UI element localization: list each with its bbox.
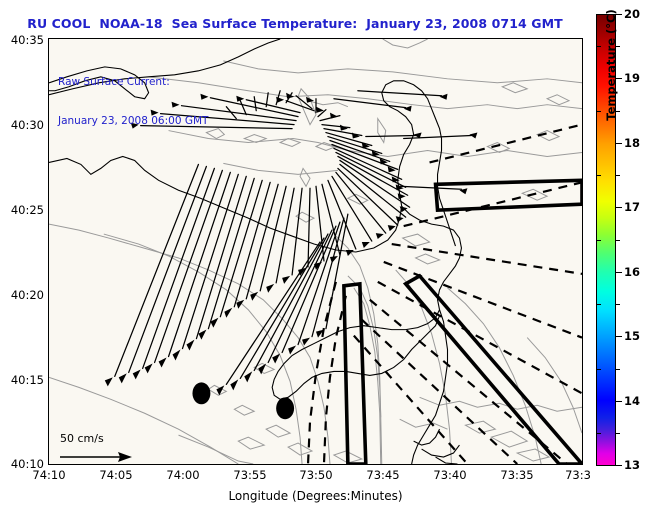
annotation-line-2: January 23, 2008 06:00 GMT — [58, 115, 208, 128]
cbar-minor-tick — [616, 304, 620, 305]
xtick-2: 74:00 — [166, 468, 199, 482]
ytick-1: 40:30 — [11, 118, 44, 132]
station-marker — [276, 397, 294, 419]
cbar-inner-tick — [596, 304, 601, 305]
cbar-inner-tick — [596, 433, 601, 434]
cbar-tick-16 — [616, 272, 622, 273]
ytick-3: 40:20 — [11, 288, 44, 302]
ytick-5: 40:10 — [11, 457, 44, 471]
cbar-inner-tick — [596, 175, 601, 176]
cbar-inner-tick — [596, 240, 601, 241]
cbar-minor-tick — [616, 433, 620, 434]
cbar-label-20: 20 — [624, 7, 640, 21]
station-markers — [192, 382, 294, 419]
cbar-tick-17 — [616, 207, 622, 208]
xtick-3: 73:55 — [233, 468, 266, 482]
cbar-label-15: 15 — [624, 329, 640, 343]
xtick-1: 74:05 — [99, 468, 132, 482]
cbar-inner-tick — [596, 369, 601, 370]
xtick-7: 73:35 — [500, 468, 533, 482]
cbar-label-13: 13 — [624, 458, 640, 472]
vector-scale-legend: 50 cm/s — [56, 432, 152, 466]
xtick-8: 73:3 — [565, 468, 591, 482]
cbar-minor-tick — [616, 175, 620, 176]
xtick-4: 73:50 — [299, 468, 332, 482]
cbar-inner-tick — [596, 111, 601, 112]
station-marker — [192, 382, 210, 404]
current-annotation: Raw Surface Current: January 23, 2008 06… — [58, 50, 208, 154]
scale-legend-label: 50 cm/s — [60, 432, 104, 445]
cbar-tick-13 — [616, 465, 622, 466]
shipping-lane-dashed-boundaries — [308, 125, 582, 464]
cbar-label-18: 18 — [624, 136, 640, 150]
cbar-label-14: 14 — [624, 394, 640, 408]
cbar-inner-tick — [596, 46, 601, 47]
colorbar-title: Temperature (°C) — [604, 0, 618, 160]
cbar-minor-tick — [616, 369, 620, 370]
ytick-4: 40:15 — [11, 373, 44, 387]
ytick-0: 40:35 — [11, 33, 44, 47]
scale-legend-arrow — [58, 450, 144, 464]
annotation-line-1: Raw Surface Current: — [58, 76, 208, 89]
cbar-label-17: 17 — [624, 200, 640, 214]
cbar-label-16: 16 — [624, 265, 640, 279]
cbar-label-19: 19 — [624, 71, 640, 85]
xtick-6: 73:40 — [433, 468, 466, 482]
figure-title: RU COOL NOAA-18 Sea Surface Temperature:… — [0, 16, 590, 31]
ytick-2: 40:25 — [11, 203, 44, 217]
sst-map-figure: RU COOL NOAA-18 Sea Surface Temperature:… — [0, 0, 651, 518]
x-axis-label: Longitude (Degrees:Minutes) — [48, 489, 583, 503]
cbar-minor-tick — [616, 240, 620, 241]
cbar-tick-15 — [616, 336, 622, 337]
cbar-tick-14 — [616, 401, 622, 402]
xtick-5: 73:45 — [366, 468, 399, 482]
